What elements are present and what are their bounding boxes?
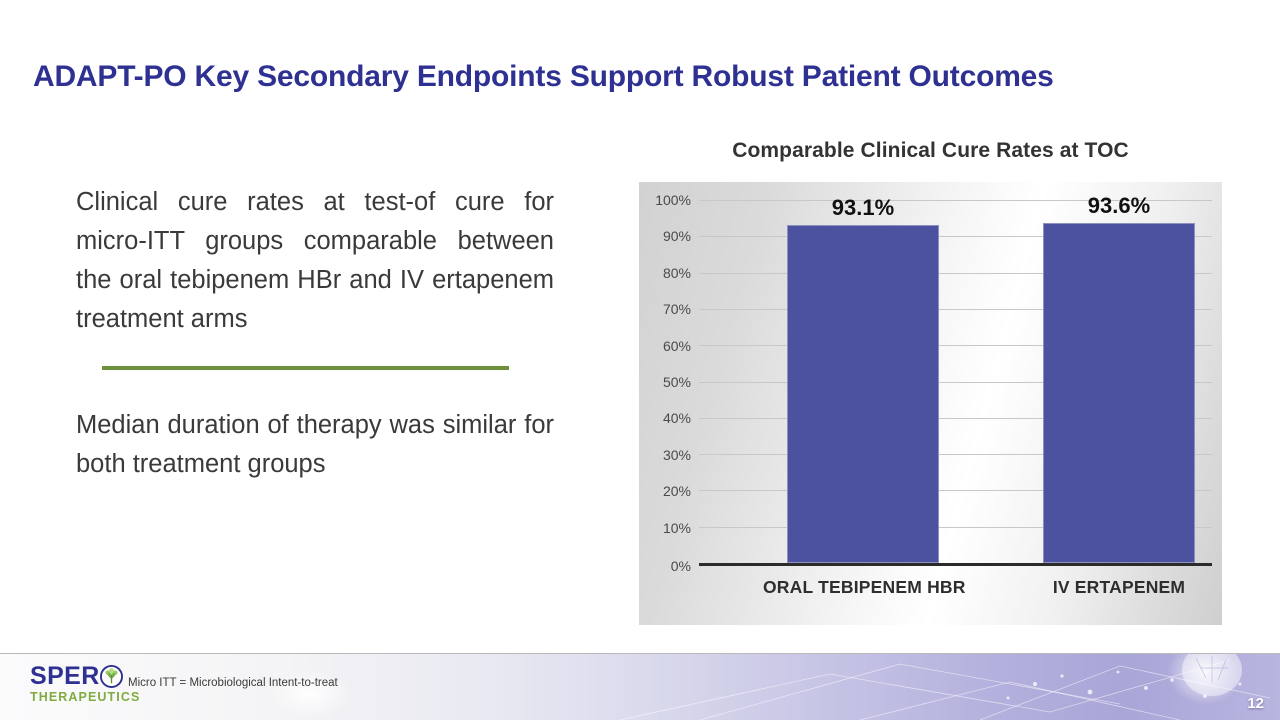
body-paragraph-1: Clinical cure rates at test-of cure for … <box>76 183 554 339</box>
y-axis-tick-60: 60% <box>663 338 691 354</box>
chart-title: Comparable Clinical Cure Rates at TOC <box>639 139 1222 163</box>
y-axis-tick-70: 70% <box>663 301 691 317</box>
y-axis-tick-50: 50% <box>663 374 691 390</box>
chart-bars: 93.1%93.6% <box>699 200 1212 563</box>
y-axis-tick-100: 100% <box>655 192 691 208</box>
logo-tagline: THERAPEUTICS <box>30 690 138 704</box>
slide-footer: SPER THERAPEUTICS Micro ITT = Microbiolo… <box>0 653 1280 720</box>
logo-word-text: SPER <box>30 662 100 690</box>
y-axis-tick-30: 30% <box>663 447 691 463</box>
chart-plot-area: 100%90%80%70%60%50%40%30%20%10%0% 93.1%9… <box>699 200 1212 563</box>
bar-chart: 100%90%80%70%60%50%40%30%20%10%0% 93.1%9… <box>639 182 1222 625</box>
bar-group-0: 93.1% <box>787 200 939 563</box>
y-axis-tick-0: 0% <box>671 558 691 574</box>
bar-value-label-1: 93.6% <box>1043 193 1195 219</box>
body-text-column: Clinical cure rates at test-of cure for … <box>76 183 554 484</box>
gridline-0: 0% <box>699 563 1212 566</box>
spero-logo: SPER THERAPEUTICS <box>30 664 138 714</box>
logo-wordmark: SPER <box>30 664 138 689</box>
y-axis-tick-80: 80% <box>663 265 691 281</box>
chart-category-labels: ORAL TEBIPENEM HBR IV ERTAPENEM <box>699 577 1212 607</box>
bar-value-label-0: 93.1% <box>787 195 939 221</box>
spacer <box>76 370 554 406</box>
page-number: 12 <box>1247 695 1264 712</box>
category-label-iv-ertapenem: IV ERTAPENEM <box>1019 577 1219 598</box>
page-title: ADAPT-PO Key Secondary Endpoints Support… <box>33 60 1243 93</box>
tree-circle-icon <box>100 665 123 688</box>
bar-0 <box>787 225 939 563</box>
bar-1 <box>1043 223 1195 563</box>
y-axis-tick-10: 10% <box>663 520 691 536</box>
footnote-text: Micro ITT = Microbiological Intent-to-tr… <box>128 677 338 689</box>
y-axis-tick-40: 40% <box>663 410 691 426</box>
category-label-oral-tebipenem-hbr: ORAL TEBIPENEM HBR <box>763 577 963 598</box>
y-axis-tick-90: 90% <box>663 228 691 244</box>
bar-group-1: 93.6% <box>1043 200 1195 563</box>
slide-canvas: ADAPT-PO Key Secondary Endpoints Support… <box>0 0 1280 720</box>
y-axis-tick-20: 20% <box>663 483 691 499</box>
body-paragraph-2: Median duration of therapy was similar f… <box>76 406 554 484</box>
